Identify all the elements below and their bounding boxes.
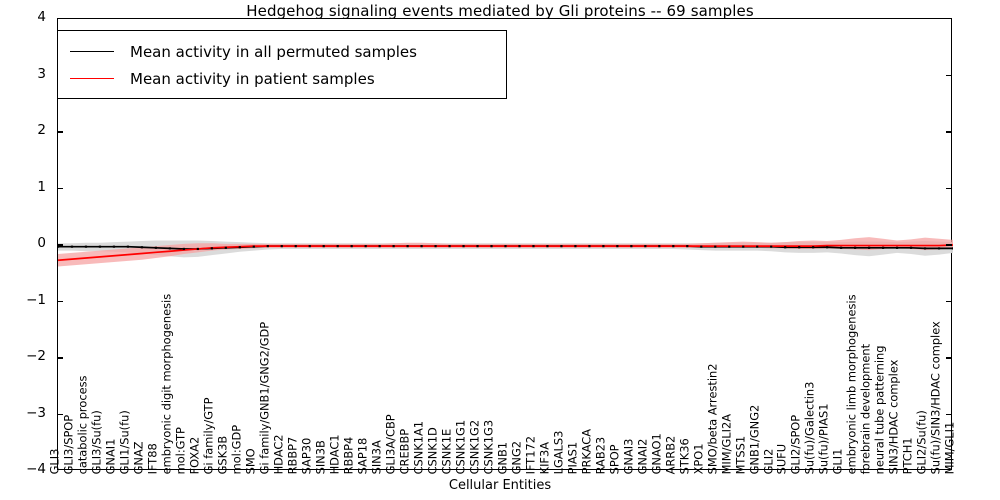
x-tick-label: FOXA2	[190, 436, 201, 474]
legend-line-swatch-black	[70, 51, 114, 52]
x-tick-label: CSNK1G2	[469, 420, 480, 475]
x-tick-label: GLI3/SPOP	[64, 414, 75, 474]
x-tick-label: SMO/beta Arrestin2	[707, 363, 718, 474]
x-tick-label: CSNK1E	[441, 428, 452, 474]
x-tick-label: CREBBP	[400, 428, 411, 474]
x-tick-label: CSNK1D	[427, 427, 438, 474]
legend-label-permuted: Mean activity in all permuted samples	[130, 43, 417, 61]
x-tick-label: SMO	[246, 448, 257, 474]
x-tick-label: embryonic limb morphogenesis	[847, 294, 858, 474]
legend-label-patient: Mean activity in patient samples	[130, 70, 375, 88]
x-tick-label: GSK3B	[218, 435, 229, 474]
x-tick-label: Su(fu)/SIN3/HDAC complex	[931, 321, 942, 474]
x-tick-label: Gi family/GNB1/GNG2/GDP	[260, 321, 271, 474]
x-tick-label: IFT172	[525, 436, 536, 474]
x-tick-label: GNAI1	[106, 438, 117, 474]
x-tick-label: GLI2/Su(fu)	[917, 410, 928, 474]
x-tick-label: CSNK1G1	[455, 420, 466, 475]
x-tick-label: SIN3A	[372, 440, 383, 474]
x-tick-label: GLI1	[833, 448, 844, 474]
x-tick-label: GNB1/GNG2	[749, 404, 760, 474]
x-tick-label: MTSS1	[735, 436, 746, 475]
x-tick-label: SIN3B	[316, 440, 327, 474]
x-tick-label: GLI3	[50, 448, 61, 474]
x-tick-label: PTCH1	[903, 437, 914, 474]
x-tick-label: KIF3A	[539, 442, 550, 474]
x-tick-label: STK36	[679, 438, 690, 474]
x-tick-label: GNAI3	[623, 438, 634, 474]
x-tick-label: catabolic process	[78, 375, 89, 474]
x-tick-label: ARRB2	[665, 435, 676, 474]
x-tick-label: GLI3/Su(fu)	[92, 410, 103, 474]
x-tick-label: HDAC1	[330, 434, 341, 474]
x-tick-label: GLI1/Su(fu)	[120, 410, 131, 474]
x-tick-label: PRKACA	[581, 429, 592, 474]
x-tick-label: neural tube patterning	[875, 345, 886, 474]
x-tick-label: PIAS1	[567, 442, 578, 475]
x-tick-label: SIN3/HDAC complex	[889, 359, 900, 474]
x-tick-label: GLI2	[763, 448, 774, 474]
x-tick-label: GNAI2	[637, 438, 648, 474]
x-tick-label: CSNK1G3	[483, 420, 494, 475]
x-tick-label: Su(fu)/Galectin3	[805, 381, 816, 474]
legend-entry-patient: Mean activity in patient samples	[70, 65, 506, 92]
legend-entry-permuted: Mean activity in all permuted samples	[70, 38, 506, 65]
x-tick-label: SAP18	[358, 437, 369, 474]
x-tick-label: GLI3A/CBP	[386, 414, 397, 474]
x-tick-label: HDAC2	[274, 434, 285, 474]
x-tick-label: embryonic digit morphogenesis	[162, 293, 173, 474]
x-tick-label: SUFU	[777, 444, 788, 474]
x-tick-label: GNG2	[511, 441, 522, 474]
x-tick-label: SPOP	[609, 444, 620, 474]
x-tick-label: XPO1	[693, 443, 704, 474]
x-tick-label: RBBP7	[288, 436, 299, 474]
x-axis-label: Cellular Entities	[0, 478, 1000, 493]
x-tick-label: GLI2/SPOP	[791, 414, 802, 474]
x-tick-label: GNAZ	[134, 441, 145, 474]
x-tick-label: MIM/GLI1	[945, 421, 956, 474]
x-tick-label: LGALS3	[553, 430, 564, 474]
x-tick-label: GNAO1	[651, 433, 662, 474]
x-tick-label: RBBP4	[344, 436, 355, 474]
x-tick-label: CSNK1A1	[413, 421, 424, 474]
x-tick-label: IFT88	[148, 443, 159, 474]
x-tick-label: MIM/GLI2A	[721, 414, 732, 474]
x-tick-label: RAB23	[595, 436, 606, 474]
x-tick-label: SAP30	[302, 437, 313, 474]
x-tick-label: mol:GDP	[232, 424, 243, 474]
x-tick-label: forebrain development	[861, 344, 872, 474]
x-tick-label: Su(fu)/PIAS1	[819, 403, 830, 474]
chart-legend: Mean activity in all permuted samples Me…	[57, 30, 507, 99]
legend-line-swatch-red	[70, 78, 114, 79]
chart-figure: Hedgehog signaling events mediated by Gl…	[0, 0, 1000, 500]
x-tick-label: mol:GTP	[176, 427, 187, 474]
x-tick-label: GNB1	[497, 442, 508, 474]
x-tick-label: Gi family/GTP	[204, 397, 215, 474]
